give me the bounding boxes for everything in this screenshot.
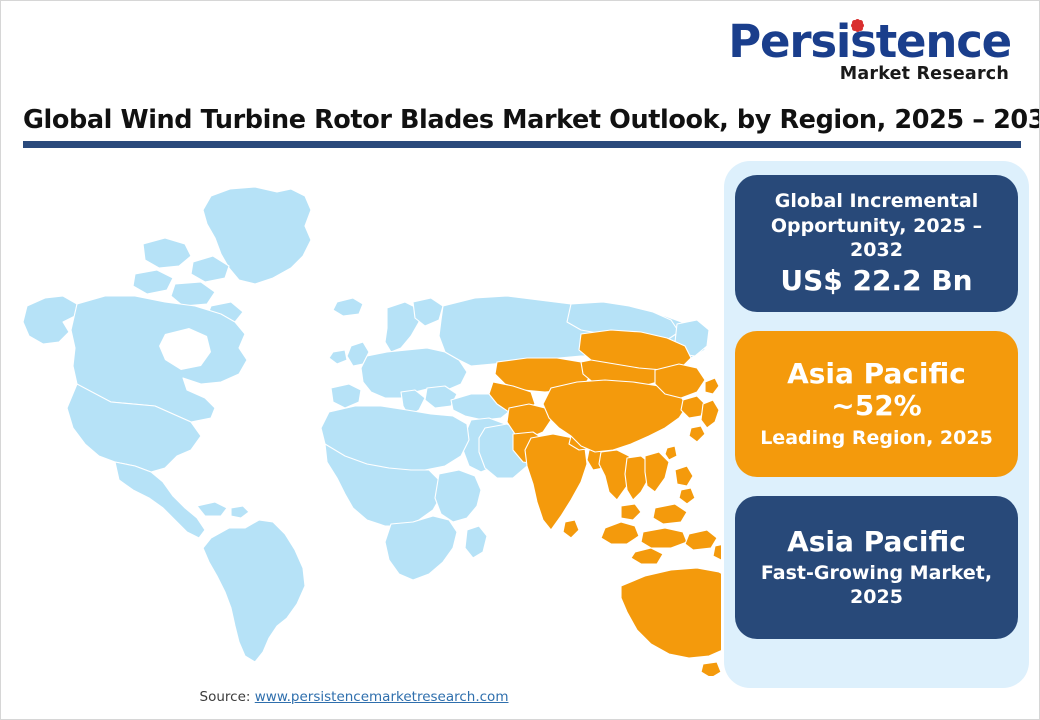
source-footer: Source: www.persistencemarketresearch.co… bbox=[1, 689, 707, 705]
card-leading-region: Asia Pacific ~52% Leading Region, 2025 bbox=[735, 331, 1018, 477]
title-underline-rule bbox=[23, 141, 1021, 148]
map-highlighted-asia-pacific bbox=[489, 330, 721, 676]
company-logo: Persistence Market Research bbox=[728, 19, 1011, 84]
logo-wordmark: Persistence bbox=[728, 19, 1011, 64]
infographic-page: Persistence Market Research Global Wind … bbox=[0, 0, 1040, 720]
card-global-incremental-opportunity: Global Incremental Opportunity, 2025 – 2… bbox=[735, 175, 1018, 312]
card-1-value: US$ 22.2 Bn bbox=[770, 265, 982, 297]
card-1-label-line-2: Opportunity, 2025 – 2032 bbox=[735, 214, 1018, 263]
card-3-label-line-2: 2025 bbox=[836, 585, 917, 609]
card-2-value: Asia Pacific ~52% bbox=[735, 358, 1018, 422]
card-1-label-line-1: Global Incremental bbox=[761, 189, 992, 213]
source-prefix: Source: bbox=[200, 689, 255, 705]
world-map bbox=[15, 156, 721, 676]
card-3-label-line-1: Fast-Growing Market, bbox=[747, 561, 1006, 585]
card-2-label: Leading Region, 2025 bbox=[746, 426, 1007, 450]
source-link[interactable]: www.persistencemarketresearch.com bbox=[255, 689, 509, 705]
card-fast-growing-market: Asia Pacific Fast-Growing Market, 2025 bbox=[735, 496, 1018, 639]
card-3-value: Asia Pacific bbox=[777, 526, 976, 558]
logo-name-text: Persistence bbox=[728, 15, 1011, 68]
logo-tagline: Market Research bbox=[728, 66, 1011, 84]
page-title: Global Wind Turbine Rotor Blades Market … bbox=[23, 105, 1023, 135]
metrics-panel: Global Incremental Opportunity, 2025 – 2… bbox=[724, 161, 1029, 688]
world-map-svg bbox=[15, 156, 721, 676]
